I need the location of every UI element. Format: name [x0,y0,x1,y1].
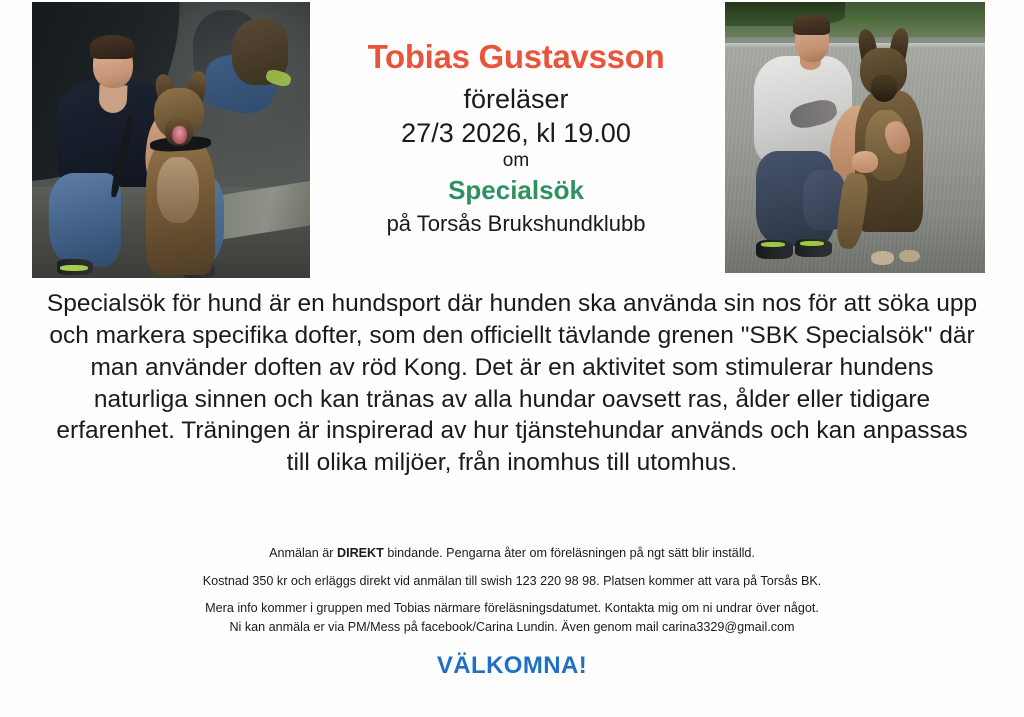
photo-dog-paw-left [871,251,894,265]
photo-man-leg-left [49,173,121,267]
page-title: Tobias Gustavsson [318,40,714,75]
fineprint-binding-suffix: bindande. Pengarna åter om föreläsningen… [384,546,755,560]
photo-man-hand [852,151,878,173]
fineprint-binding-prefix: Anmälan är [269,546,337,560]
topic-title: Specialsök [318,176,714,205]
photo-man-hair [793,14,831,34]
photo-dog-muzzle [871,75,897,102]
fineprint-block: Anmälan är DIREKT bindande. Pengarna åte… [46,546,978,648]
about-word: om [318,151,714,172]
photo-man-shoe-left-sole [60,265,88,271]
fineprint-binding-line: Anmälan är DIREKT bindande. Pengarna åte… [46,546,978,562]
photo-man-shoe-right-lace [800,241,823,246]
photo-man-shoe-left-lace [761,242,784,247]
fineprint-info-line: Mera info kommer i gruppen med Tobias nä… [46,601,978,617]
description-paragraph: Specialsök för hund är en hundsport där … [46,288,978,479]
fineprint-contact-line: Ni kan anmäla er via PM/Mess på facebook… [46,620,978,636]
photo-man-hair [90,35,134,58]
event-datetime: 27/3 2026, kl 19.00 [318,118,714,148]
photo-dog-chest [157,157,199,223]
photo-man-vneck [98,84,127,113]
photo-dog-open-mouth [172,126,188,144]
welcome-line: VÄLKOMNA! [46,652,978,680]
lecturer-line: föreläser [318,84,714,114]
venue-line: på Torsås Brukshundklubb [318,212,714,236]
photo-tobias-with-dog-indoor [32,2,310,278]
photo-tobias-with-dog-outdoor [725,2,985,273]
photo-dog-paw-right [899,250,920,262]
header-block: Tobias Gustavsson föreläser 27/3 2026, k… [318,40,714,236]
fineprint-cost-line: Kostnad 350 kr och erläggs direkt vid an… [46,574,978,590]
fineprint-binding-emphasis: DIREKT [337,546,384,560]
